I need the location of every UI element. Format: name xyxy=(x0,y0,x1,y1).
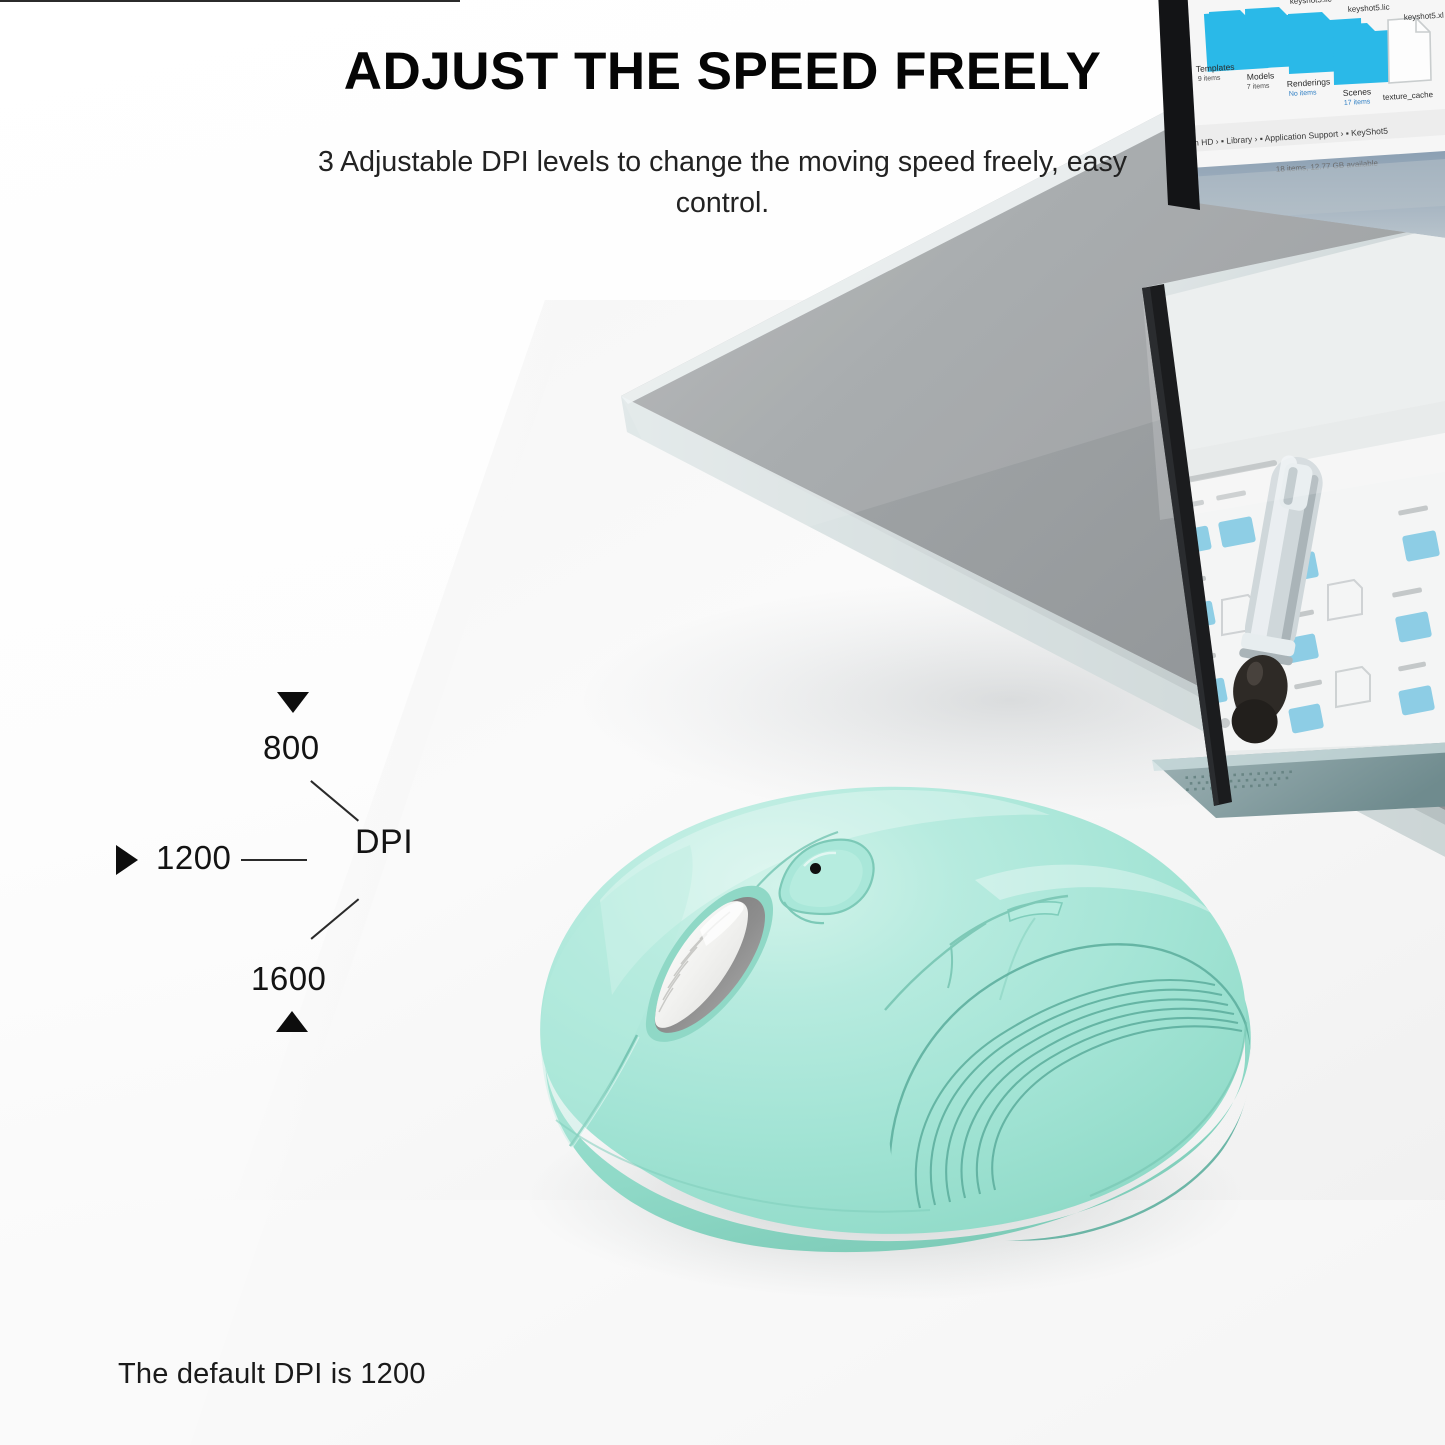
mouse-body xyxy=(540,787,1246,1234)
default-dpi-note: The default DPI is 1200 xyxy=(118,1358,426,1391)
product-marketing-image: Templates 9 items Models 7 items Renderi… xyxy=(0,0,1445,1445)
page-subtitle: 3 Adjustable DPI levels to change the mo… xyxy=(283,142,1163,225)
page-title: ADJUST THE SPEED FREELY xyxy=(0,44,1445,100)
